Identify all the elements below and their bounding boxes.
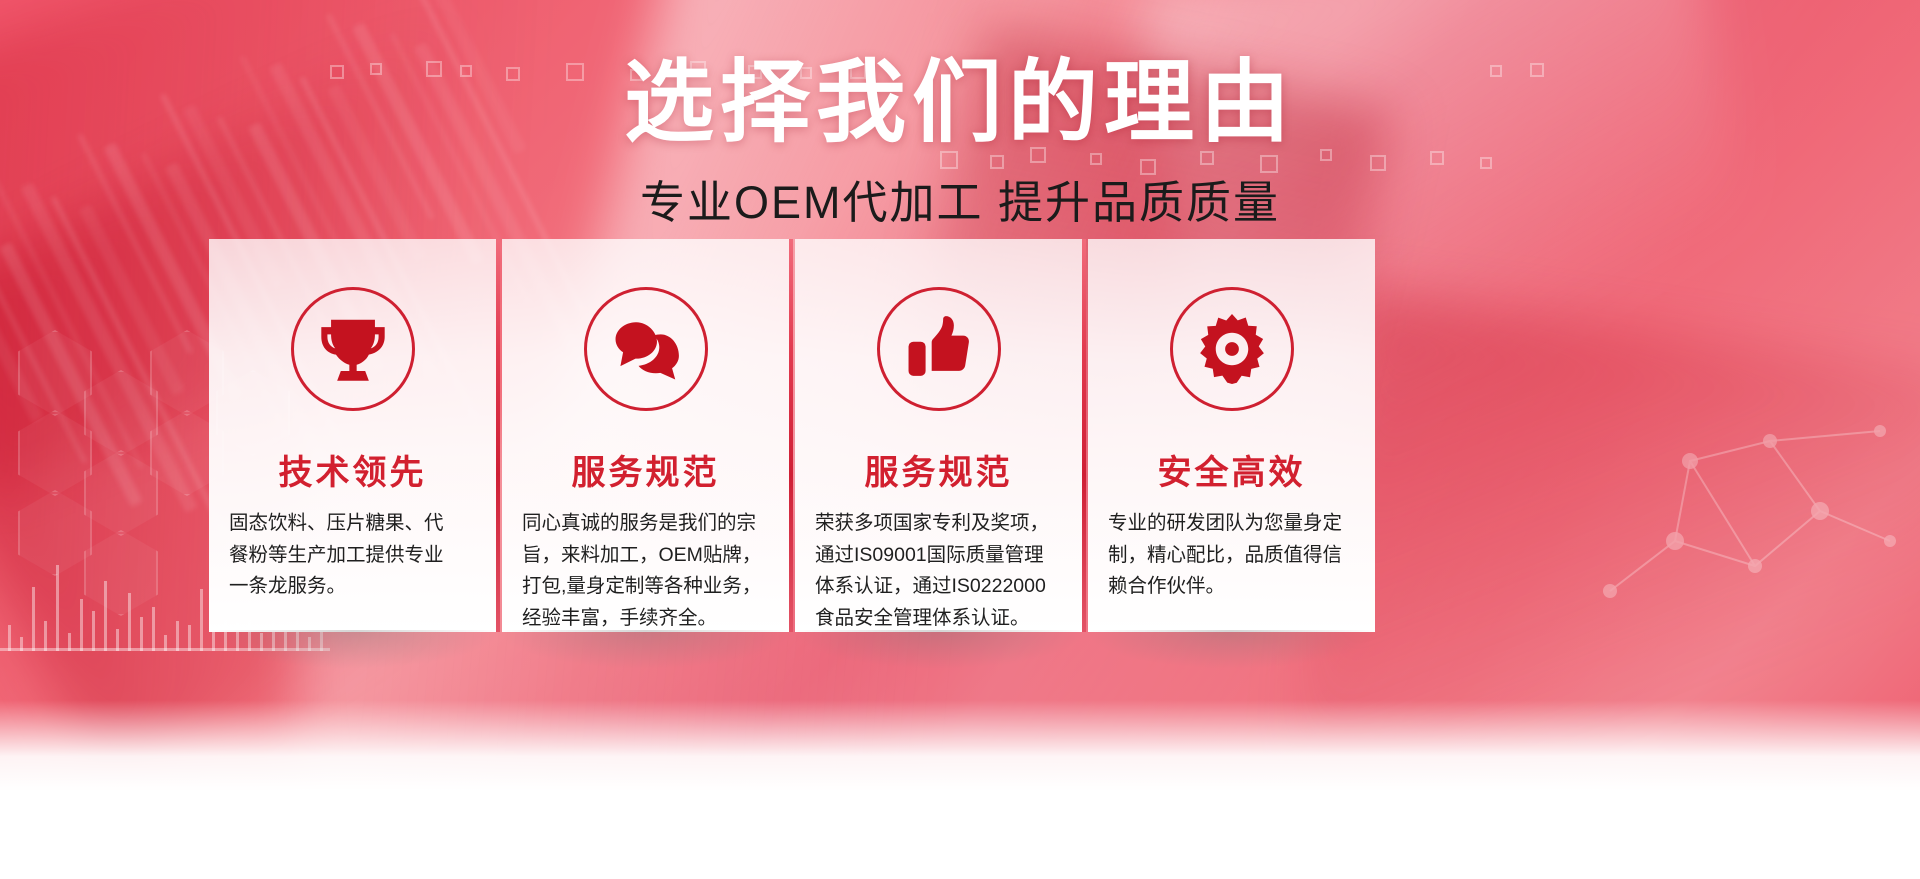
card-title: 安全高效 [1100,445,1363,494]
card-divider [789,239,793,632]
card-body-line: 赖合作伙伴。 [1108,571,1355,603]
card-body-line: 经验丰富，手续齐全。 [522,603,769,635]
card-body-line: 食品安全管理体系认证。 [815,603,1062,635]
card-divider [496,239,500,632]
card-title: 服务规范 [807,445,1070,494]
feature-card[interactable]: 安全高效 专业的研发团队为您量身定 制，精心配比，品质值得信 赖合作伙伴。 [1088,239,1375,632]
card-body-line: 餐粉等生产加工提供专业 [229,540,476,572]
chat-bubbles-icon [584,287,708,411]
card-body-line: 同心真诚的服务是我们的宗 [522,508,769,540]
card-title: 服务规范 [514,445,777,494]
card-title: 技术领先 [221,445,484,494]
card-body: 专业的研发团队为您量身定 制，精心配比，品质值得信 赖合作伙伴。 [1100,508,1363,603]
card-divider [1082,239,1086,632]
page-subtitle: 专业OEM代加工 提升品质质量 [0,166,1920,231]
feature-card-list: 技术领先 固态饮料、压片糖果、代 餐粉等生产加工提供专业 一条龙服务。 服务规范… [209,239,1564,632]
thumbs-up-icon [877,287,1001,411]
feature-card[interactable]: 服务规范 荣获多项国家专利及奖项， 通过IS09001国际质量管理 体系认证，通… [795,239,1082,632]
card-body-line: 打包,量身定制等各种业务， [522,571,769,603]
card-body-line: 专业的研发团队为您量身定 [1108,508,1355,540]
card-body-line: 制，精心配比，品质值得信 [1108,540,1355,572]
bottom-fade [0,700,1920,791]
card-body-line: 通过IS09001国际质量管理 [815,540,1062,572]
card-body-line: 荣获多项国家专利及奖项， [815,508,1062,540]
page-title: 选择我们的理由 [0,58,1920,148]
page-bottom-area [0,791,1920,879]
card-body: 固态饮料、压片糖果、代 餐粉等生产加工提供专业 一条龙服务。 [221,508,484,603]
card-body: 同心真诚的服务是我们的宗 旨，来料加工，OEM贴牌， 打包,量身定制等各种业务，… [514,508,777,634]
trophy-icon [291,287,415,411]
card-body-line: 一条龙服务。 [229,571,476,603]
feature-card[interactable]: 技术领先 固态饮料、压片糖果、代 餐粉等生产加工提供专业 一条龙服务。 [209,239,496,632]
card-body-line: 旨，来料加工，OEM贴牌， [522,540,769,572]
molecule-network-icon [1580,391,1910,641]
feature-card[interactable]: 服务规范 同心真诚的服务是我们的宗 旨，来料加工，OEM贴牌， 打包,量身定制等… [502,239,789,632]
gear-icon [1170,287,1294,411]
card-body-line: 体系认证，通过IS0222000 [815,571,1062,603]
hero-banner: 选择我们的理由 专业OEM代加工 提升品质质量 技术领先 固态饮料、压片糖果、代… [0,0,1920,791]
card-body: 荣获多项国家专利及奖项， 通过IS09001国际质量管理 体系认证，通过IS02… [807,508,1070,634]
card-body-line: 固态饮料、压片糖果、代 [229,508,476,540]
